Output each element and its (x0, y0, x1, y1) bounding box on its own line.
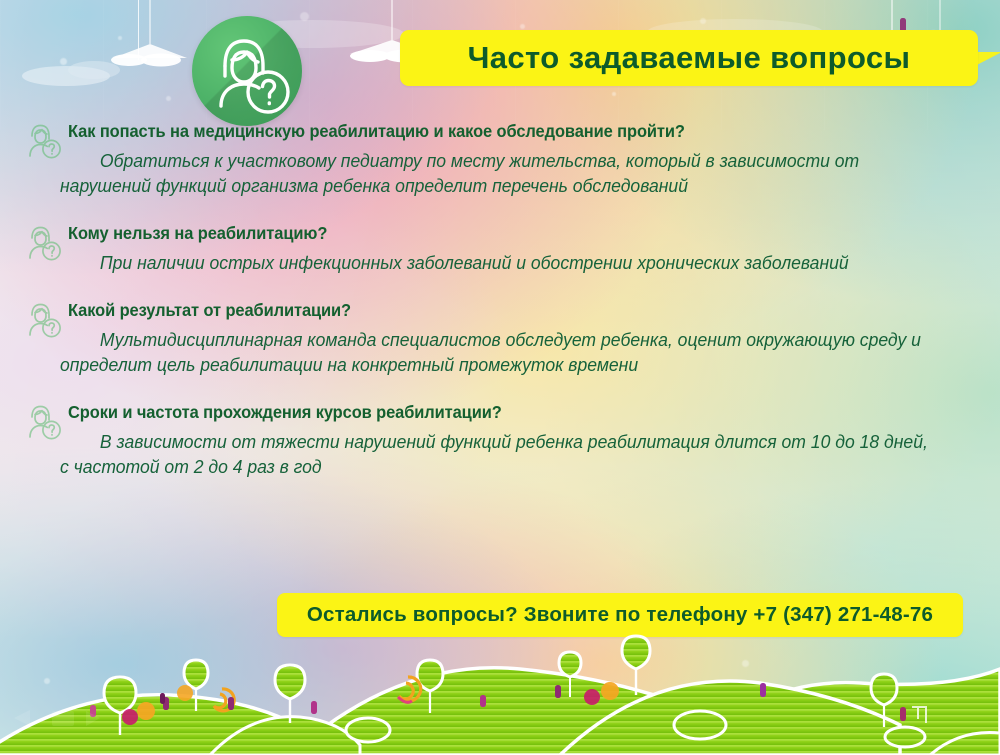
spacer (0, 279, 1000, 299)
contact-call-text: Остались вопросы? Звоните по телефону +7… (307, 603, 933, 627)
faq-item: Кому нельзя на реабилитацию? При наличии… (0, 222, 1000, 275)
person-question-icon (24, 301, 64, 339)
faq-logo (192, 16, 302, 126)
faq-answer: В зависимости от тяжести нарушений функц… (60, 429, 928, 479)
person-question-icon (24, 224, 64, 262)
faq-question: Кому нельзя на реабилитацию? (68, 222, 944, 244)
faq-item: Сроки и частота прохождения курсов реаби… (0, 401, 1000, 479)
faq-poster: Часто задаваемые вопросы Как попасть на … (0, 0, 1000, 755)
person-question-icon (24, 403, 64, 441)
page-title: Часто задаваемые вопросы (468, 40, 911, 76)
faq-item: Какой результат от реабилитации? Мультид… (0, 299, 1000, 377)
faq-list: Как попасть на медицинскую реабилитацию … (0, 120, 1000, 483)
person-question-icon (192, 16, 302, 126)
watermark-icons (8, 703, 128, 733)
hills-illustration (0, 625, 1000, 755)
faq-item: Как попасть на медицинскую реабилитацию … (0, 120, 1000, 198)
faq-question: Сроки и частота прохождения курсов реаби… (68, 401, 944, 423)
hanging-swing-decoration (95, 0, 205, 72)
faq-question: Какой результат от реабилитации? (68, 299, 944, 321)
faq-answer: При наличии острых инфекционных заболева… (60, 250, 928, 275)
poster-title-band: Часто задаваемые вопросы (400, 30, 978, 86)
faq-answer: Обратиться к участковому педиатру по мес… (60, 148, 928, 198)
faq-question: Как попасть на медицинскую реабилитацию … (68, 120, 944, 142)
spacer (0, 202, 1000, 222)
person-question-icon (24, 122, 64, 160)
spacer (0, 381, 1000, 401)
faq-answer: Мультидисциплинарная команда специалисто… (60, 327, 928, 377)
